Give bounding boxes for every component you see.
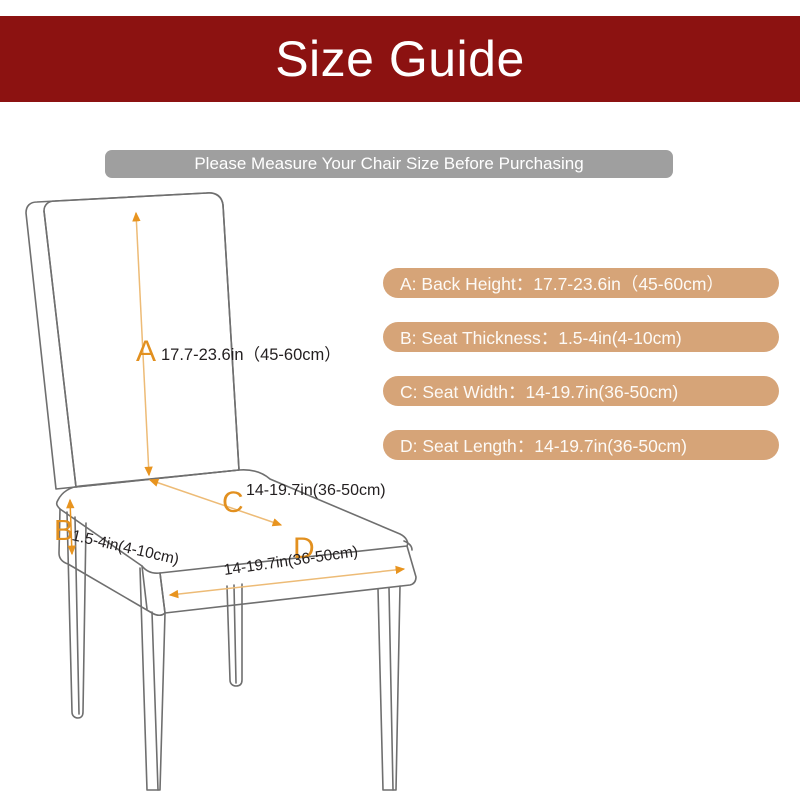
page-title: Size Guide	[275, 34, 525, 84]
subtitle-pill: Please Measure Your Chair Size Before Pu…	[105, 150, 673, 178]
size-guide-page: Size Guide Please Measure Your Chair Siz…	[0, 0, 800, 800]
subtitle-text: Please Measure Your Chair Size Before Pu…	[194, 154, 583, 174]
arrow-seat-length	[170, 569, 404, 595]
chair-leg-front-left-crease	[152, 612, 158, 790]
seat-corner-seam	[142, 566, 147, 609]
dimension-letter-a: A	[136, 337, 156, 367]
legend-item-a-label: A: Back Height：17.7-23.6in（45-60cm）	[400, 271, 724, 296]
chair-leg-front-right-crease	[389, 588, 393, 790]
dimension-value-c: 14-19.7in(36-50cm)	[246, 482, 386, 500]
chair-leg-front-left	[140, 568, 165, 790]
banner: Size Guide	[0, 16, 800, 102]
dimension-letter-c: C	[222, 488, 244, 518]
legend-item-b: B: Seat Thickness：1.5-4in(4-10cm)	[383, 322, 779, 352]
legend-item-d-label: D: Seat Length：14-19.7in(36-50cm)	[400, 433, 687, 458]
dimension-value-a: 17.7-23.6in（45-60cm）	[161, 341, 341, 365]
legend-item-c-label: C: Seat Width：14-19.7in(36-50cm)	[400, 379, 678, 404]
legend-item-d: D: Seat Length：14-19.7in(36-50cm)	[383, 430, 779, 460]
chair-leg-front-right	[378, 586, 400, 790]
legend-item-a: A: Back Height：17.7-23.6in（45-60cm）	[383, 268, 779, 298]
dimension-value-d: 14-19.7in(36-50cm)	[223, 543, 359, 580]
legend-item-c: C: Seat Width：14-19.7in(36-50cm)	[383, 376, 779, 406]
chair-back-crease	[44, 211, 76, 487]
chair-leg-back-right-crease	[234, 585, 236, 683]
legend-list: A: Back Height：17.7-23.6in（45-60cm） B: S…	[383, 268, 779, 484]
legend-item-b-label: B: Seat Thickness：1.5-4in(4-10cm)	[400, 325, 682, 350]
seat-right-corner-seam	[404, 541, 412, 550]
dimension-value-b: 1.5-4in(4-10cm)	[70, 527, 181, 569]
chair-leg-back-right	[227, 584, 242, 686]
